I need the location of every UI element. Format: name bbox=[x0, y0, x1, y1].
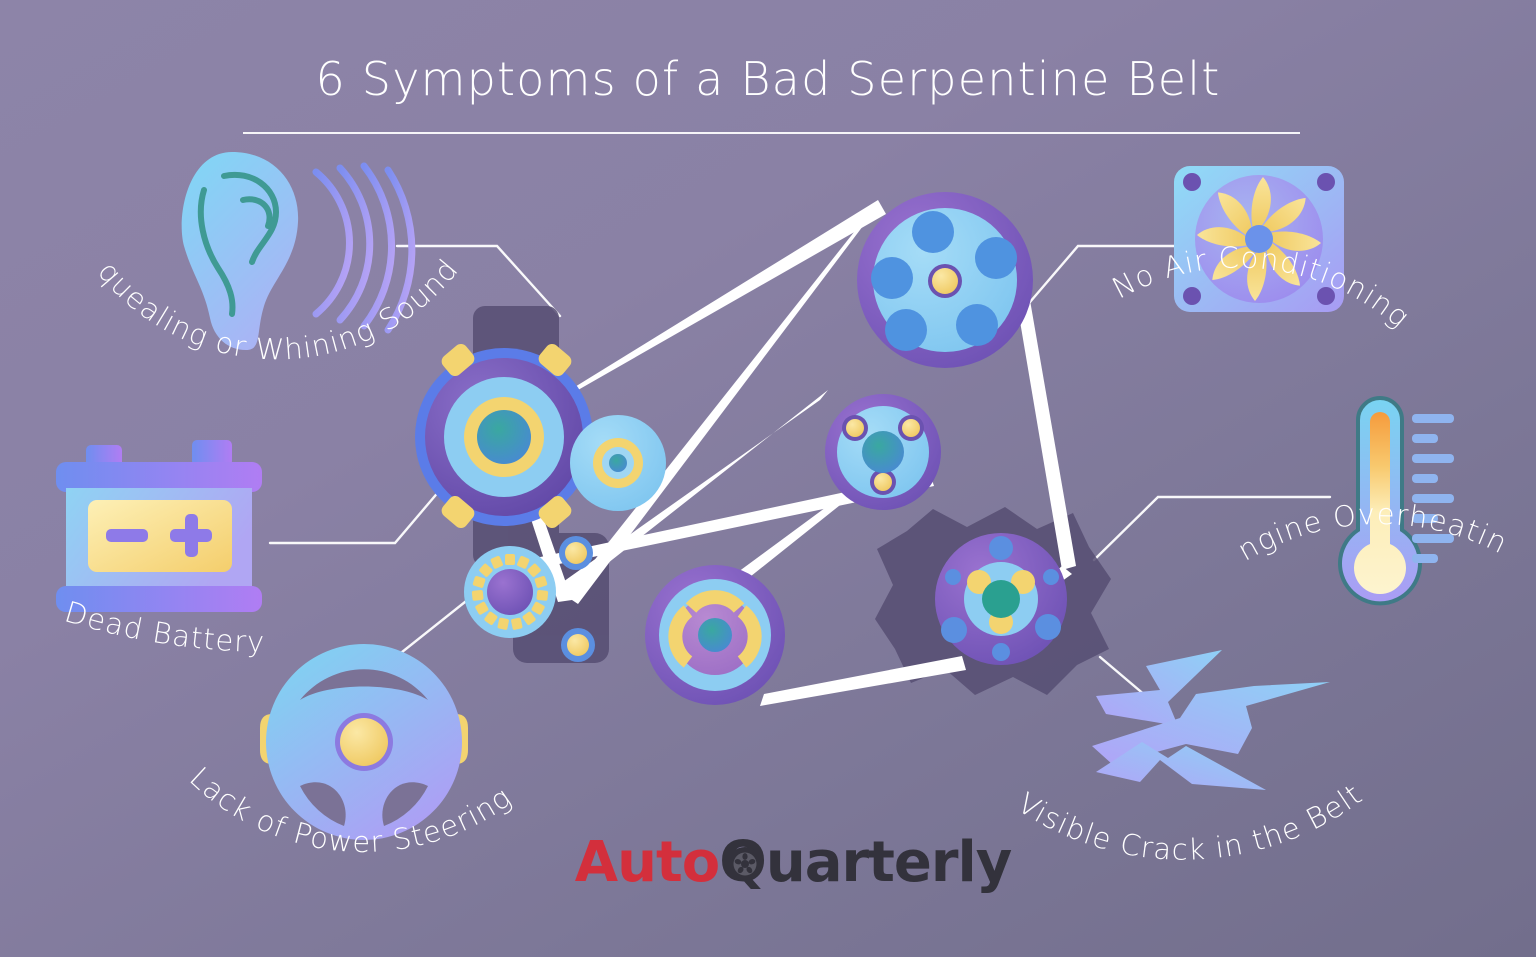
logo-quarterly-text: uarterly bbox=[766, 830, 1011, 895]
battery-minus-icon bbox=[106, 529, 148, 542]
logo-auto-text: Auto bbox=[575, 830, 719, 895]
symptom-labels: Squealing or Whining Sounds Dead Battery… bbox=[0, 0, 1513, 867]
fan-icon bbox=[1174, 166, 1344, 312]
pulley-crankshaft bbox=[415, 341, 593, 531]
pulley-ac-compressor bbox=[935, 533, 1067, 665]
logo-q-wheel: Q bbox=[719, 830, 766, 895]
tire-icon bbox=[725, 844, 765, 884]
infographic-canvas: 6 Symptoms of a Bad Serpentine Belt bbox=[0, 0, 1536, 957]
steering-wheel-icon bbox=[260, 644, 468, 840]
thermometer-ticks bbox=[1412, 414, 1454, 563]
brand-logo: AutoQuarterly bbox=[558, 826, 1028, 898]
illustration-layer: Squealing or Whining Sounds Dead Battery… bbox=[0, 0, 1536, 957]
pulley-alternator bbox=[857, 192, 1033, 368]
crack-lightning-icon bbox=[1092, 650, 1330, 790]
connector-battery bbox=[270, 490, 440, 543]
car-battery-icon bbox=[56, 440, 262, 612]
pulley-tensioner bbox=[464, 546, 556, 638]
pulley-water-pump bbox=[825, 394, 941, 510]
pulley-power-steering bbox=[645, 565, 785, 705]
pulley-idler-small bbox=[570, 415, 666, 511]
label-crack: Visible Crack in the Belt bbox=[1012, 777, 1369, 867]
